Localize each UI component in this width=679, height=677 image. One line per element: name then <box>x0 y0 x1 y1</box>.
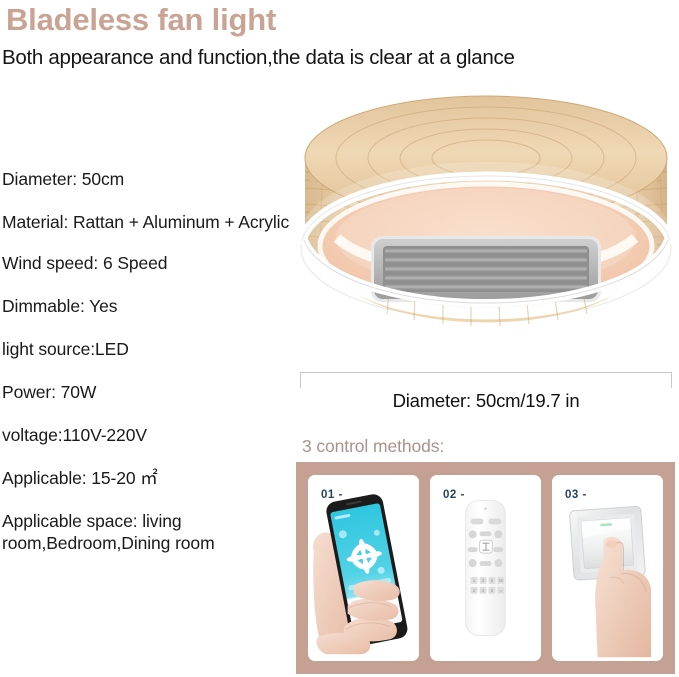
control-card-wall-switch[interactable]: 03 - <box>552 475 663 661</box>
svg-text:M: M <box>499 578 503 583</box>
spec-item: Applicable space: living room,Bedroom,Di… <box>2 510 290 554</box>
specification-list: Diameter: 50cm Material: Rattan + Alumin… <box>2 168 290 573</box>
page-subtitle: Both appearance and function,the data is… <box>2 44 515 72</box>
dimension-caption: Diameter: 50cm/19.7 in <box>297 390 675 412</box>
dimension-tick-right <box>671 372 672 388</box>
page-title: Bladeless fan light <box>6 0 276 40</box>
product-image <box>297 88 675 363</box>
wall-switch-icon <box>552 475 663 661</box>
control-card-label: 02 - <box>443 489 465 501</box>
control-card-label: 03 - <box>565 489 587 501</box>
svg-text:=: = <box>500 588 503 593</box>
spec-item: Applicable: 15-20 ㎡ <box>2 467 290 489</box>
phone-app-icon <box>308 475 419 661</box>
spec-item: Power: 70W <box>2 381 290 403</box>
control-methods-heading: 3 control methods: <box>302 436 444 457</box>
spec-item: light source:LED <box>2 338 290 360</box>
dimension-line <box>300 372 672 373</box>
control-methods-panel: 01 - <box>296 462 675 674</box>
spec-item: Dimmable: Yes <box>2 295 290 317</box>
dimension-bracket <box>300 372 672 388</box>
control-card-phone-app[interactable]: 01 - <box>308 475 419 661</box>
spec-item: Material: Rattan + Aluminum + Acrylic <box>2 211 290 233</box>
spec-item: Diameter: 50cm <box>2 168 290 190</box>
dimension-tick-left <box>300 372 301 388</box>
spec-item: voltage:110V-220V <box>2 424 290 446</box>
control-card-remote[interactable]: 02 - <box>430 475 541 661</box>
spec-item: Wind speed: 6 Speed <box>2 252 290 274</box>
control-card-label: 01 - <box>321 489 343 501</box>
remote-control-icon: 13 5M 24 6= <box>430 475 541 661</box>
